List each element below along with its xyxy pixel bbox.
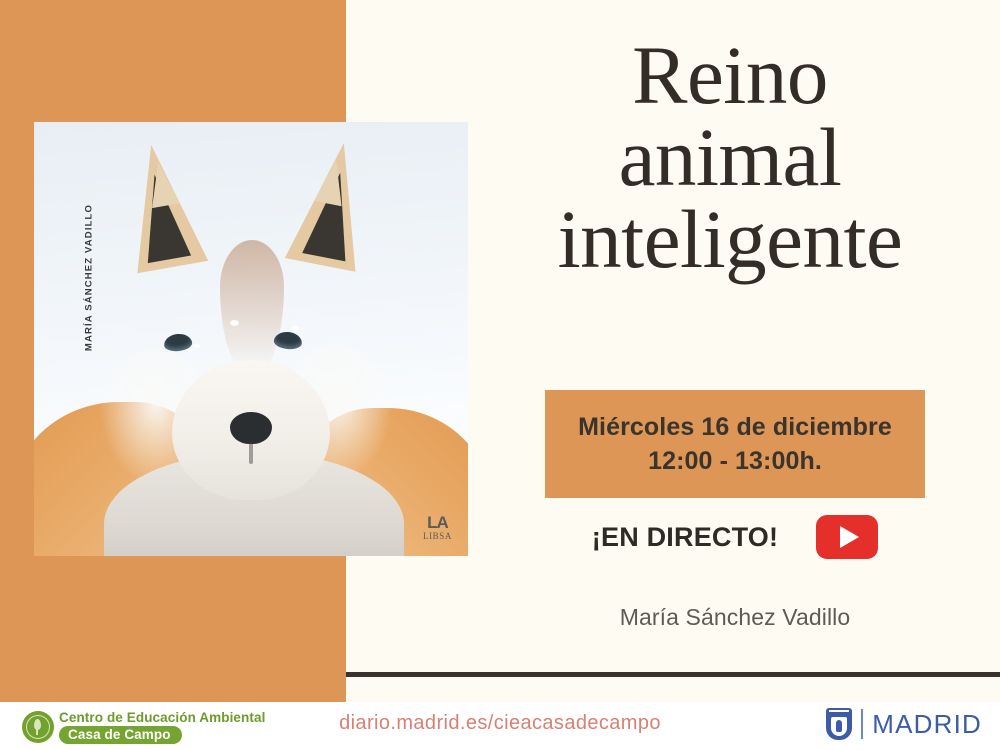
- cover-author-vertical-text: MARÍA SÁNCHEZ VADILLO: [84, 193, 95, 363]
- madrid-city-logo: MADRID: [826, 708, 982, 740]
- madrid-shield-emblem: [831, 717, 847, 736]
- poster-canvas: MARÍA SÁNCHEZ VADILLO LA LIBSA Reino ani…: [0, 0, 1000, 750]
- fox-photograph: MARÍA SÁNCHEZ VADILLO LA LIBSA: [34, 122, 468, 556]
- event-time: 12:00 - 13:00h.: [648, 446, 822, 477]
- title-line-1: Reino: [470, 34, 990, 116]
- snow-fleck: [194, 344, 200, 348]
- poster-title: Reino animal inteligente: [470, 34, 990, 280]
- book-cover-image: MARÍA SÁNCHEZ VADILLO LA LIBSA: [34, 122, 468, 556]
- fox-nose-line: [249, 442, 253, 464]
- snow-fleck: [292, 326, 299, 331]
- horizontal-divider: [346, 672, 1000, 677]
- play-triangle-icon: [840, 526, 859, 548]
- event-date: Miércoles 16 de diciembre: [578, 412, 892, 443]
- madrid-shield-icon: [826, 708, 852, 740]
- event-datetime-box: Miércoles 16 de diciembre 12:00 - 13:00h…: [545, 390, 925, 498]
- snow-fleck: [230, 320, 239, 326]
- title-line-3: inteligente: [470, 198, 990, 280]
- event-speaker: María Sánchez Vadillo: [545, 604, 925, 631]
- live-label: ¡EN DIRECTO!: [592, 522, 778, 553]
- fox-nose: [230, 412, 272, 444]
- libsa-monogram: LA: [423, 514, 452, 531]
- fox-illustration: [34, 122, 468, 556]
- logo-divider: [861, 709, 863, 739]
- youtube-icon[interactable]: [816, 515, 878, 559]
- live-broadcast-row: ¡EN DIRECTO!: [545, 515, 925, 559]
- madrid-wordmark: MADRID: [872, 711, 982, 737]
- libsa-wordmark: LIBSA: [423, 532, 452, 542]
- libsa-publisher-logo: LA LIBSA: [423, 514, 452, 542]
- title-line-2: animal: [470, 116, 990, 198]
- fox-forehead-stripe: [220, 240, 284, 370]
